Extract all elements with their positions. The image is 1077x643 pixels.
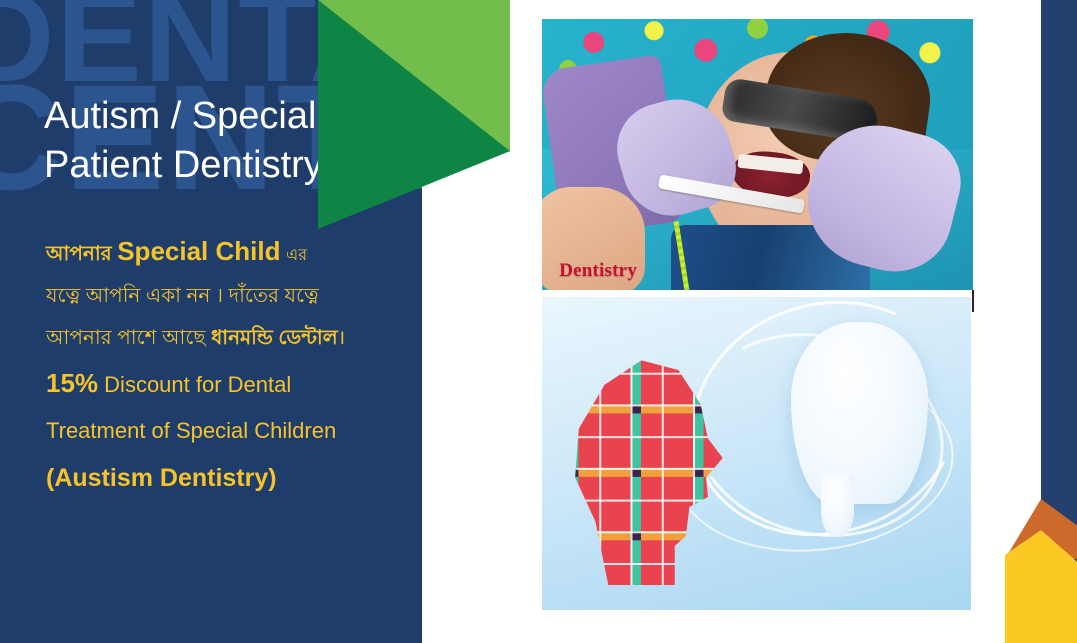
bengali-line-3: আপনার পাশে আছে ধানমন্ডি ডেন্টাল। [46, 328, 396, 348]
bengali-line-3-clinic-name: ধানমন্ডি ডেন্টাল [211, 327, 338, 349]
bengali-line-2: যত্নে আপনি একা নন । দাঁতের যত্নে [46, 286, 396, 306]
discount-text-1: Discount for Dental [104, 372, 291, 397]
slide-canvas: DENTAL CENTER Autism / Special Patient D… [0, 0, 1077, 643]
promo-body-copy: আপনার Special Child এর যত্নে আপনি একা নন… [46, 238, 396, 491]
bengali-line-3-prefix: আপনার পাশে আছে [46, 327, 206, 349]
bengali-line-1-prefix: আপনার [46, 243, 112, 265]
bengali-line-3-suffix: । [338, 327, 346, 349]
bengali-line-1-suffix: এর [286, 247, 307, 264]
top-photo-watermark: Dentistry [559, 260, 637, 282]
discount-line-2: Treatment of Special Children [46, 420, 396, 442]
discount-percent: 15% [46, 368, 98, 398]
photo-divider-rule [972, 290, 974, 312]
bottom-photo [542, 297, 971, 610]
bengali-line-1: আপনার Special Child এর [46, 238, 396, 264]
bottom-photo-tooth-icon [791, 322, 928, 504]
bengali-line-1-highlight: Special Child [117, 236, 280, 266]
discount-line-1: 15% Discount for Dental [46, 370, 396, 396]
discount-line-3: (Austism Dentistry) [46, 466, 396, 491]
top-photo: Dentistry [542, 19, 973, 290]
